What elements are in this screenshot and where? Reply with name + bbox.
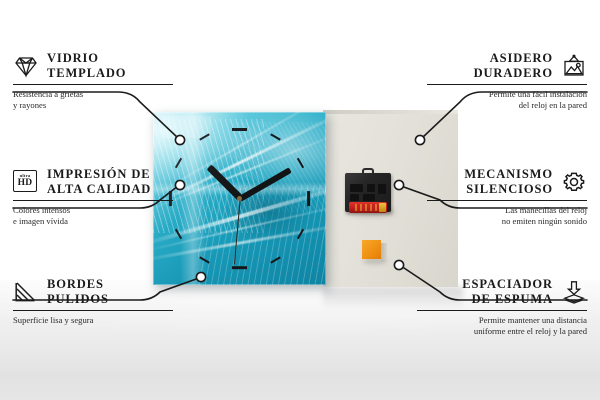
ultra-hd-badge-icon: ultra HD [13,170,39,194]
callout-heading: ASIDERO DURADERO [427,51,587,81]
infographic-stage: VIDRIO TEMPLADO Resistencia a grietas y … [0,0,600,400]
callout-title-line1: VIDRIO [47,51,126,66]
callout-title-line2: PULIDOS [47,292,109,307]
mechanism-detail [363,194,375,201]
wall-clock [153,112,326,285]
mechanism-detail [367,184,375,192]
callout-divider [13,200,173,201]
callout-desc-line2: del reloj en la pared [427,100,587,111]
callout-divider [417,310,587,311]
diagonal-lines-edge-icon [13,280,39,304]
clock-glass-edge [153,112,326,285]
callout-heading: VIDRIO TEMPLADO [13,51,173,81]
callout-divider [427,84,587,85]
callout-desc-line1: Las manecillas del reloj [427,205,587,216]
clock-mechanism [345,168,391,212]
battery-positive-terminal [379,203,386,212]
callout-heading: ultra HD IMPRESIÓN DE ALTA CALIDAD [13,167,173,197]
feature-callout-impresion-alta-calidad: ultra HD IMPRESIÓN DE ALTA CALIDAD Color… [13,167,173,226]
diamond-gem-icon [13,54,39,78]
callout-title-line1: ASIDERO [474,51,553,66]
callout-title-line1: ESPACIADOR [462,277,553,292]
callout-desc-line2: y rayones [13,100,173,111]
callout-title-line1: IMPRESIÓN DE [47,167,151,182]
callout-desc-line1: Permite una fácil instalación [427,89,587,100]
callout-title-line2: ALTA CALIDAD [47,182,151,197]
callout-heading: BORDES PULIDOS [13,277,173,307]
gear-icon [561,170,587,194]
callout-title-line2: TEMPLADO [47,66,126,81]
callout-title-line2: SILENCIOSO [464,182,553,197]
mechanism-body [345,173,391,212]
feature-callout-espaciador-de-espuma: ESPACIADOR DE ESPUMA Permite mantener un… [417,277,587,336]
callout-title-line2: DURADERO [474,66,553,81]
hanging-picture-frame-icon [561,54,587,78]
callout-desc-line1: Colores intensos [13,205,173,216]
callout-divider [13,84,173,85]
wall-panel-top-edge [323,110,458,114]
callout-divider [13,310,173,311]
callout-desc-line2: no emiten ningún sonido [427,216,587,227]
feature-callout-vidrio-templado: VIDRIO TEMPLADO Resistencia a grietas y … [13,51,173,110]
callout-heading: ESPACIADOR DE ESPUMA [417,277,587,307]
mechanism-detail [350,194,359,201]
callout-desc-line2: e imagen vívida [13,216,173,227]
mechanism-detail [350,184,363,192]
callout-divider [427,200,587,201]
foam-spacer [362,240,381,259]
callout-heading: MECANISMO SILENCIOSO [427,167,587,197]
callout-title-line1: MECANISMO [464,167,553,182]
callout-desc-line1: Resistencia a grietas [13,89,173,100]
mechanism-detail [378,184,386,194]
feature-callout-bordes-pulidos: BORDES PULIDOS Superficie lisa y segura [13,277,173,326]
feature-callout-mecanismo-silencioso: MECANISMO SILENCIOSO Las manecillas del … [427,167,587,226]
battery [349,202,387,213]
feature-callout-asidero-duradero: ASIDERO DURADERO Permite una fácil insta… [427,51,587,110]
foam-spacer-side [381,243,387,262]
arrow-down-onto-stack-icon [561,280,587,304]
battery-label [355,204,379,211]
callout-title-line1: BORDES [47,277,109,292]
callout-desc-line1: Superficie lisa y segura [13,315,173,326]
callout-desc-line2: uniforme entre el reloj y la pared [417,326,587,337]
callout-desc-line1: Permite mantener una distancia [417,315,587,326]
ultra-hd-bottom-text: HD [18,179,33,189]
callout-title-line2: DE ESPUMA [462,292,553,307]
